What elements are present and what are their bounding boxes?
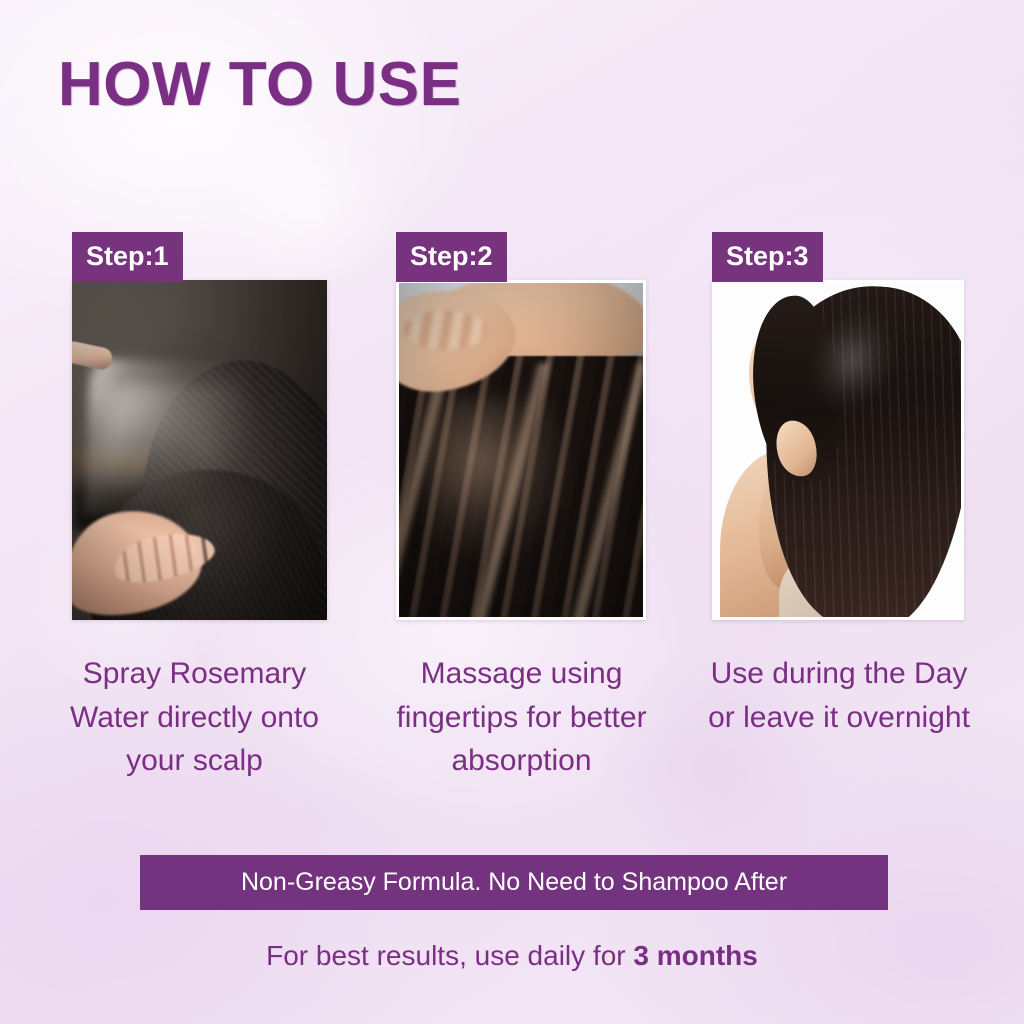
step-1-caption: Spray Rosemary Water directly onto your … (42, 652, 347, 783)
footer-note: For best results, use daily for 3 months (0, 940, 1024, 972)
step-2-image (396, 280, 646, 620)
step-2-caption: Massage using fingertips for better abso… (364, 652, 679, 783)
how-to-use-poster: HOW TO USE Step:1 (0, 0, 1024, 1024)
photo-vignette (72, 280, 327, 620)
step-3-image (712, 280, 964, 620)
photo-vignette (399, 283, 643, 617)
step-3-badge: Step:3 (712, 232, 823, 282)
step-2-badge: Step:2 (396, 232, 507, 282)
step-3-caption: Use during the Day or leave it overnight (694, 652, 984, 739)
footer-highlight: 3 months (633, 940, 757, 971)
footer-prefix: For best results, use daily for (266, 940, 633, 971)
steps-row: Step:1 Step:2 (0, 228, 1024, 648)
page-title: HOW TO USE (58, 54, 461, 116)
non-greasy-banner: Non-Greasy Formula. No Need to Shampoo A… (140, 855, 888, 910)
step-1-badge: Step:1 (72, 232, 183, 282)
step-1-image (72, 280, 327, 620)
